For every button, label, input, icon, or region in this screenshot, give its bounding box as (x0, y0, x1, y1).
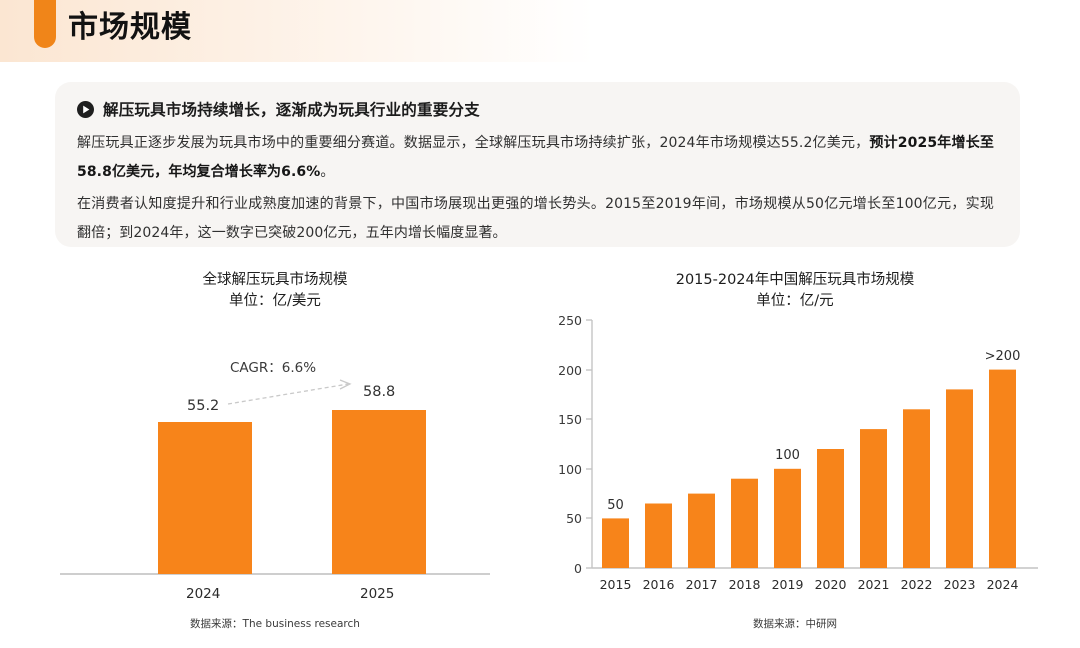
xtick-2024: 2024 (186, 586, 220, 602)
xtick-2024: 2024 (987, 577, 1019, 592)
charts-row: 全球解压玩具市场规模 单位：亿/美元 55.2 58.8 CAGR：6.6% 2… (0, 262, 1080, 648)
summary-card-header: 解压玩具市场持续增长，逐渐成为玩具行业的重要分支 (77, 98, 994, 120)
ytick-label-50: 50 (566, 511, 582, 526)
chart-right-source: 数据来源：中研网 (530, 616, 1060, 631)
bar-2022 (903, 409, 930, 568)
xtick-2021: 2021 (858, 577, 890, 592)
chart-left-plot: 55.2 58.8 CAGR：6.6% 2024 2025 (40, 312, 510, 612)
summary-card: 解压玩具市场持续增长，逐渐成为玩具行业的重要分支 解压玩具正逐步发展为玩具市场中… (55, 82, 1020, 247)
bar-2024 (158, 422, 252, 574)
chart-right-title: 2015-2024年中国解压玩具市场规模 (530, 262, 1060, 291)
ytick-label-150: 150 (558, 412, 582, 427)
xtick-2025: 2025 (360, 586, 394, 602)
chart-right-plot: 0 50 100 150 200 250 50 (540, 312, 1050, 612)
header-accent-tab (34, 0, 56, 48)
cagr-arrow-line (228, 384, 348, 404)
page-header: 市场规模 (0, 0, 1080, 62)
summary-paragraph-1: 解压玩具正逐步发展为玩具市场中的重要细分赛道。数据显示，全球解压玩具市场持续扩张… (77, 129, 994, 187)
chart-right-bars (602, 370, 1016, 568)
chart-left-title: 全球解压玩具市场规模 (30, 262, 520, 291)
cagr-annotation: CAGR：6.6% (230, 360, 316, 376)
chart-right-yticks: 0 50 100 150 200 250 (558, 313, 592, 576)
ytick-label-100: 100 (558, 462, 582, 477)
xtick-2019: 2019 (772, 577, 804, 592)
bar-2017 (688, 494, 715, 568)
chart-left-source: 数据来源：The business research (30, 616, 520, 631)
bar-label-2015: 50 (607, 498, 624, 513)
xtick-2017: 2017 (686, 577, 718, 592)
bar-2015 (602, 518, 629, 568)
summary-paragraph-2: 在消费者认知度提升和行业成熟度加速的背景下，中国市场展现出更强的增长势头。201… (77, 190, 994, 248)
xtick-2018: 2018 (729, 577, 761, 592)
bar-2025 (332, 410, 426, 574)
xtick-2016: 2016 (643, 577, 675, 592)
xtick-2020: 2020 (815, 577, 847, 592)
chart-right-subtitle: 单位：亿/元 (530, 291, 1060, 312)
chart-right-xticks: 2015 2016 2017 2018 2019 2020 2021 2022 … (600, 577, 1019, 592)
xtick-2015: 2015 (600, 577, 632, 592)
play-circle-icon (77, 101, 94, 118)
bar-2021 (860, 429, 887, 568)
ytick-label-200: 200 (558, 363, 582, 378)
bar-2018 (731, 479, 758, 568)
paragraph1-plain-b: 。 (320, 164, 334, 180)
bar-2020 (817, 449, 844, 568)
chart-left-subtitle: 单位：亿/美元 (30, 291, 520, 312)
bar-label-2025: 58.8 (363, 384, 395, 400)
bar-label-2024: >200 (985, 349, 1021, 364)
bar-2016 (645, 504, 672, 569)
xtick-2023: 2023 (944, 577, 976, 592)
chart-china-market-size: 2015-2024年中国解压玩具市场规模 单位：亿/元 0 50 100 150… (530, 262, 1060, 648)
paragraph1-plain-a: 解压玩具正逐步发展为玩具市场中的重要细分赛道。数据显示，全球解压玩具市场持续扩张… (77, 135, 869, 151)
ytick-label-0: 0 (574, 561, 582, 576)
chart-global-market-size: 全球解压玩具市场规模 单位：亿/美元 55.2 58.8 CAGR：6.6% 2… (30, 262, 520, 648)
xtick-2022: 2022 (901, 577, 933, 592)
bar-2023 (946, 389, 973, 568)
page-title: 市场规模 (68, 6, 192, 50)
bar-label-2019: 100 (775, 448, 800, 463)
bar-label-2024: 55.2 (187, 398, 219, 414)
bar-2019 (774, 469, 801, 568)
ytick-label-250: 250 (558, 313, 582, 328)
summary-card-title: 解压玩具市场持续增长，逐渐成为玩具行业的重要分支 (103, 98, 480, 120)
bar-2024 (989, 370, 1016, 568)
